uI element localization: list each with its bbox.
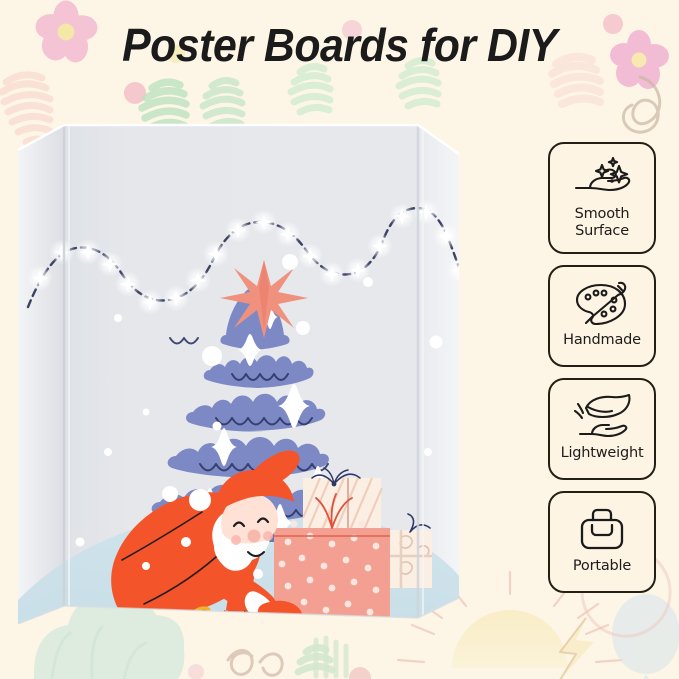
badge-label-smooth-surface: SmoothSurface bbox=[575, 206, 630, 238]
badge-label-portable: Portable bbox=[573, 558, 631, 574]
left-panel bbox=[18, 125, 64, 624]
feature-badge-list: SmoothSurface Handmade bbox=[548, 142, 660, 593]
paint-palette-icon bbox=[573, 281, 631, 325]
page-title: Poster Boards for DIY bbox=[24, 18, 655, 72]
badge-label-handmade: Handmade bbox=[563, 332, 641, 348]
badge-lightweight[interactable]: Lightweight bbox=[548, 378, 656, 480]
doodle-pink-dot-bottom-2 bbox=[188, 664, 204, 679]
doodle-green-scribble-tree-top-center bbox=[291, 67, 330, 112]
briefcase-icon bbox=[577, 507, 627, 551]
doodle-balloon-bottom-right bbox=[612, 594, 679, 679]
badge-smooth-surface[interactable]: SmoothSurface bbox=[548, 142, 656, 254]
feather-hand-icon bbox=[572, 394, 632, 438]
badge-portable[interactable]: Portable bbox=[548, 491, 656, 593]
doodle-green-scribble-bottom bbox=[298, 638, 346, 676]
doodle-lightning-bolt-bottom bbox=[560, 618, 594, 679]
badge-handmade[interactable]: Handmade bbox=[548, 265, 656, 367]
tri-fold-poster-board bbox=[18, 112, 518, 624]
doodle-tan-squiggle-bottom bbox=[228, 650, 282, 675]
product-infographic: Poster Boards for DIY bbox=[0, 0, 679, 679]
doodle-pink-dot-1 bbox=[124, 82, 146, 104]
hand-sparkle-icon bbox=[572, 155, 632, 199]
doodle-pink-dot-bottom bbox=[349, 667, 371, 679]
doodle-tan-spiral-topright bbox=[623, 77, 659, 132]
badge-label-lightweight: Lightweight bbox=[561, 445, 644, 461]
